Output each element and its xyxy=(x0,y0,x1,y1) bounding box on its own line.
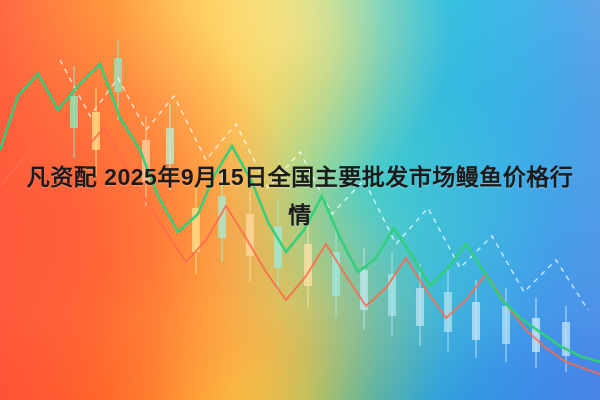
candle-body xyxy=(92,112,100,150)
candle-body xyxy=(304,244,312,286)
candle-body xyxy=(444,292,452,332)
candle-body xyxy=(472,302,480,340)
candle-body xyxy=(416,288,424,326)
page-title: 凡资配 2025年9月15日全国主要批发市场鳗鱼价格行情 xyxy=(0,158,600,234)
candle-body xyxy=(70,96,78,128)
candle-body xyxy=(114,58,122,92)
candle-body xyxy=(502,306,510,344)
banner-image: 凡资配 2025年9月15日全国主要批发市场鳗鱼价格行情 xyxy=(0,0,600,400)
candle-body xyxy=(532,318,540,352)
